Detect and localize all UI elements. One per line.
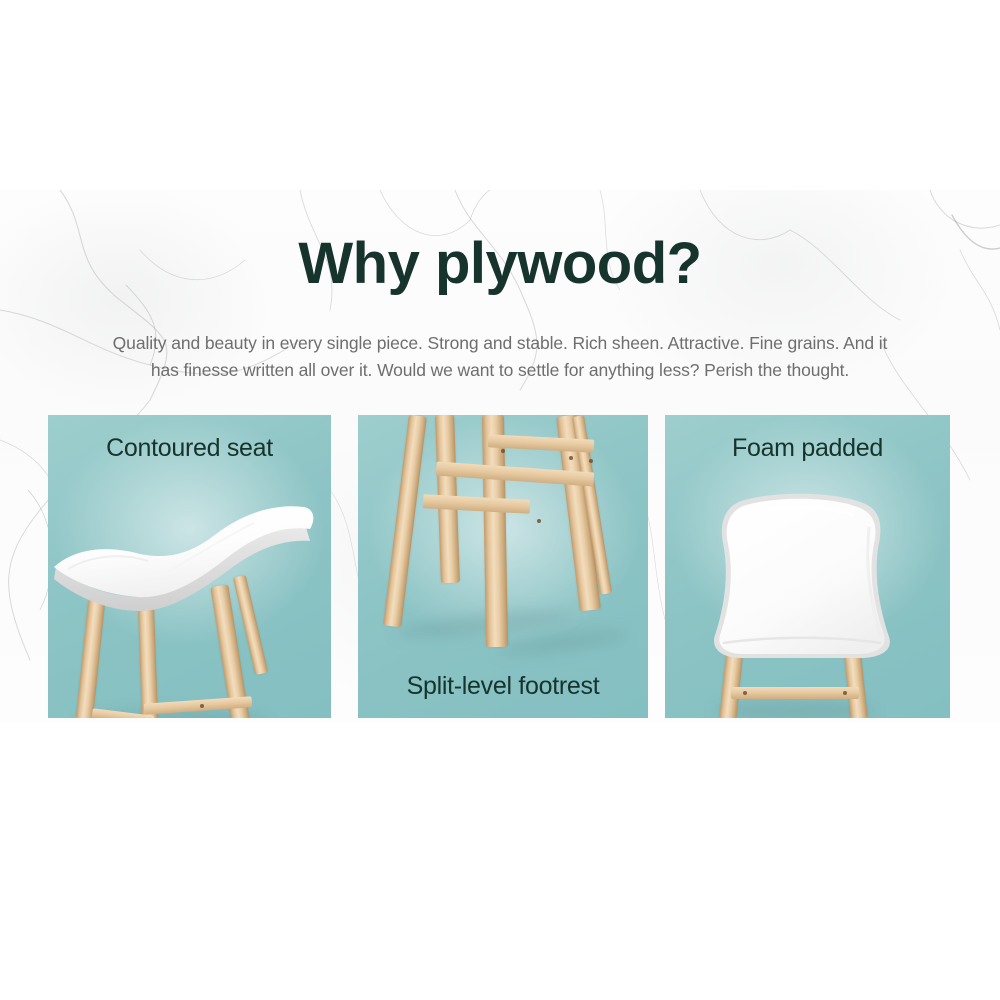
feature-panel-label: Contoured seat <box>48 434 331 463</box>
stool-rail <box>731 687 859 699</box>
feature-panel-split-level-footrest: Split-level footrest <box>358 415 648 718</box>
page-subcopy: Quality and beauty in every single piece… <box>0 330 1000 384</box>
page-title: Why plywood? <box>0 234 1000 295</box>
subcopy-line-2: has finesse written all over it. Would w… <box>0 357 1000 384</box>
stool-leg <box>383 415 427 627</box>
stool-screw <box>537 519 541 523</box>
subcopy-line-1: Quality and beauty in every single piece… <box>0 330 1000 357</box>
foam-padded-seat-image <box>693 487 909 662</box>
stool-screw <box>589 459 593 463</box>
stool-screw <box>501 449 505 453</box>
feature-panel-contoured-seat: Contoured seat <box>48 415 331 718</box>
stool-screw <box>200 704 204 708</box>
stool-screw <box>843 691 847 695</box>
stool-shadow <box>498 626 629 660</box>
product-feature-banner: Why plywood? Quality and beauty in every… <box>0 0 1000 1000</box>
contoured-seat-image <box>48 493 318 633</box>
feature-panel-foam-padded: Foam padded <box>665 415 950 718</box>
feature-panel-label: Split-level footrest <box>358 672 648 701</box>
stool-screw <box>569 456 573 460</box>
feature-panel-label: Foam padded <box>665 434 950 463</box>
stool-screw <box>743 691 747 695</box>
